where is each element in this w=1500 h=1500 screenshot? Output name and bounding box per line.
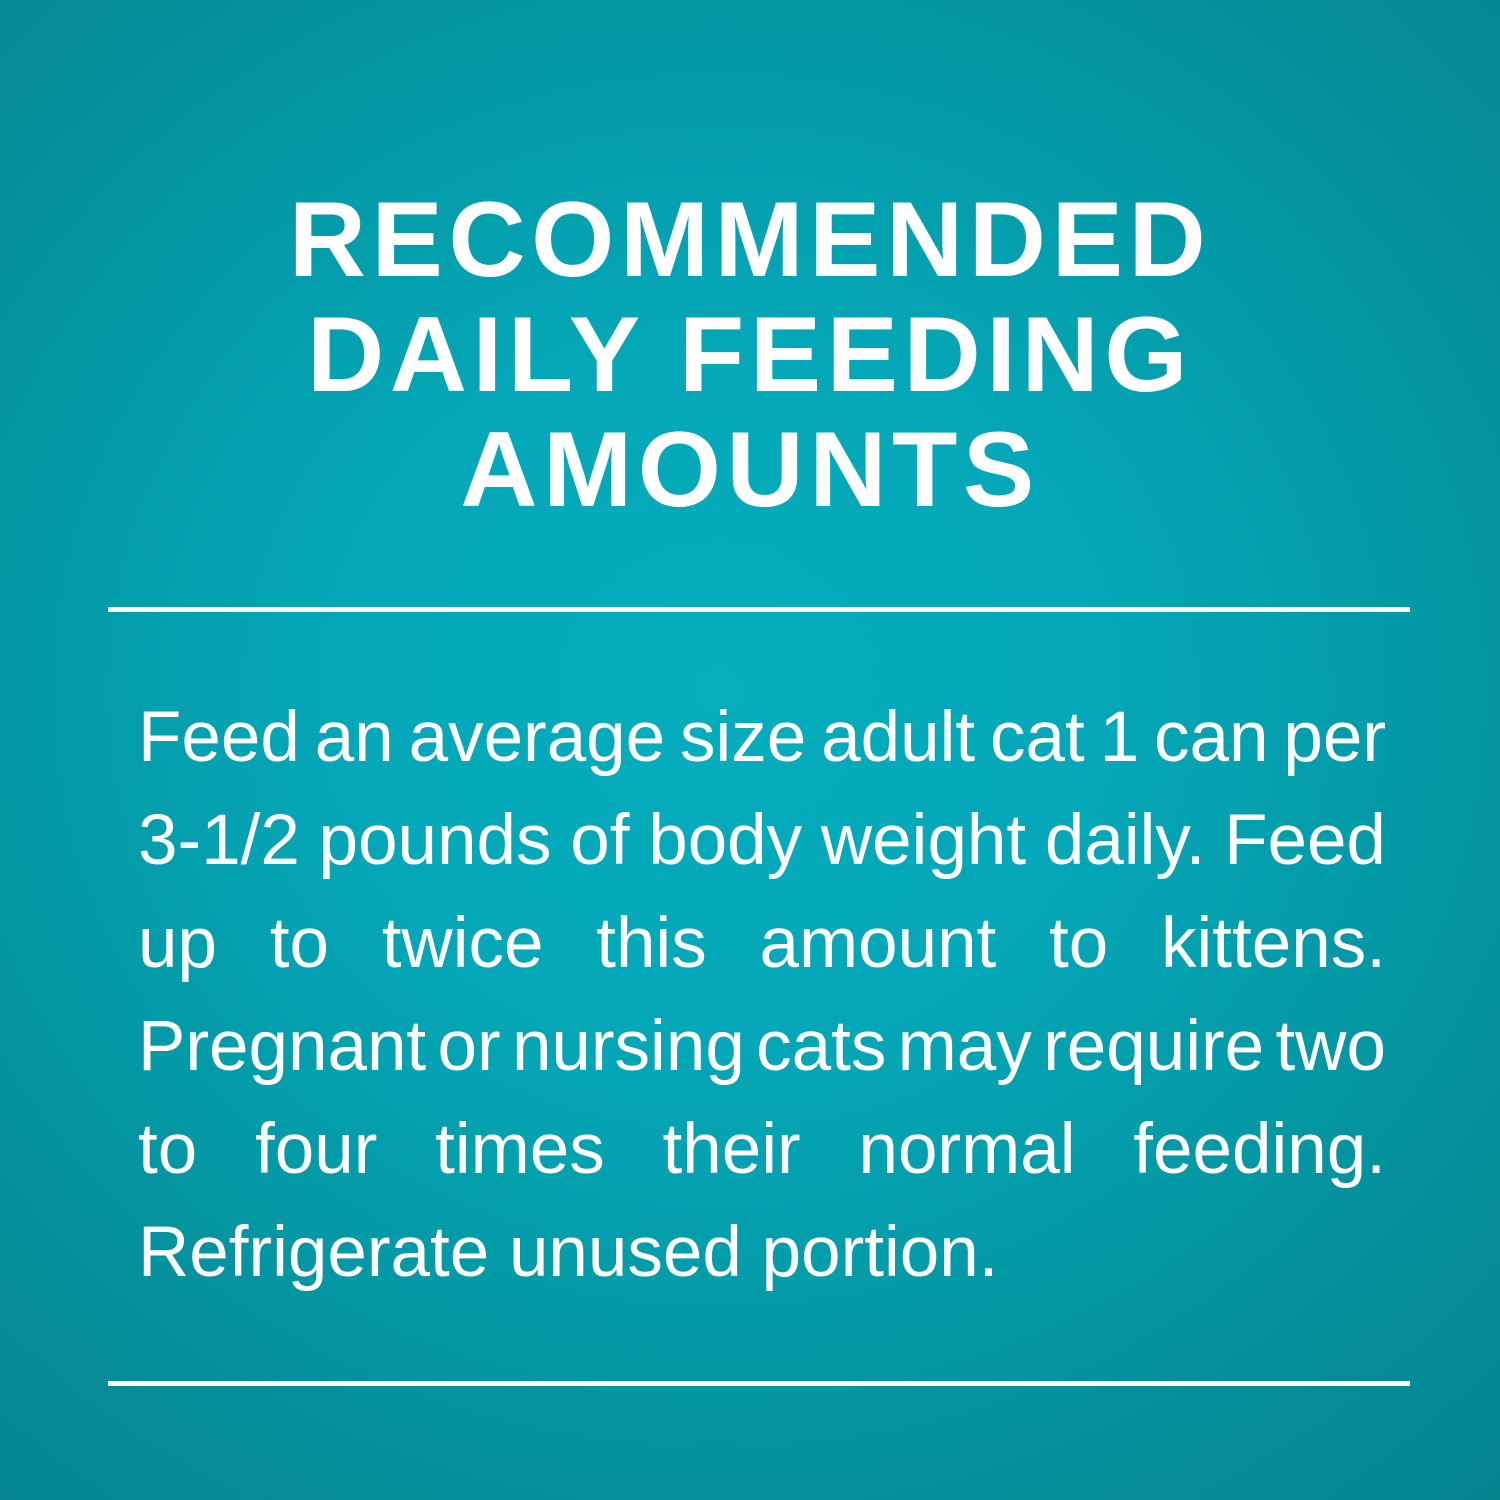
body-word: require xyxy=(1043,995,1264,1098)
body-word: weight xyxy=(821,789,1026,892)
body-word: kittens. xyxy=(1161,892,1386,995)
body-line-5: tofourtimestheirnormalfeeding. xyxy=(138,1098,1386,1201)
body-word: to xyxy=(1049,892,1108,995)
body-word: two xyxy=(1275,995,1386,1098)
body-word: Feed xyxy=(1224,789,1386,892)
body-line-3: uptotwicethisamounttokittens. xyxy=(138,892,1386,995)
page-title: RECOMMENDED DAILY FEEDING AMOUNTS xyxy=(0,182,1500,527)
feeding-instructions-panel: RECOMMENDED DAILY FEEDING AMOUNTS Feedan… xyxy=(0,0,1500,1500)
body-word: pounds xyxy=(319,789,552,892)
body-word: body xyxy=(648,789,802,892)
body-word: average xyxy=(409,686,666,789)
body-word: times xyxy=(435,1098,605,1201)
body-word: per xyxy=(1283,686,1386,789)
body-word: or xyxy=(437,995,500,1098)
body-word: amount xyxy=(759,892,996,995)
body-word: up xyxy=(138,892,217,995)
body-word: Feed xyxy=(138,686,300,789)
body-word: normal xyxy=(858,1098,1075,1201)
body-word: may xyxy=(898,995,1032,1098)
body-word: twice xyxy=(382,892,544,995)
body-word: nursing xyxy=(512,995,745,1098)
page-title-line-1: RECOMMENDED xyxy=(0,182,1500,297)
body-word: 3-1/2 xyxy=(138,789,300,892)
body-word: of xyxy=(570,789,629,892)
body-word: this xyxy=(596,892,707,995)
body-word: feeding. xyxy=(1133,1098,1386,1201)
body-word: adult xyxy=(821,686,975,789)
body-word: cats xyxy=(756,995,886,1098)
body-word: Pregnant xyxy=(138,995,426,1098)
body-word: cat xyxy=(990,686,1085,789)
body-word: their xyxy=(663,1098,801,1201)
body-word: daily. xyxy=(1045,789,1205,892)
divider-top xyxy=(108,607,1410,612)
body-line-6: Refrigerate unused portion. xyxy=(138,1201,1386,1304)
page-title-line-2: DAILY FEEDING xyxy=(0,297,1500,412)
body-word: to xyxy=(270,892,329,995)
body-word: to xyxy=(138,1098,197,1201)
body-word: four xyxy=(255,1098,377,1201)
body-word: can xyxy=(1154,686,1268,789)
body-line-1: Feedanaveragesizeadultcat1canper xyxy=(138,686,1386,789)
body-line-2: 3-1/2poundsofbodyweightdaily.Feed xyxy=(138,789,1386,892)
page-title-line-3: AMOUNTS xyxy=(0,412,1500,527)
body-word: an xyxy=(315,686,394,789)
feeding-instructions-text: Feedanaveragesizeadultcat1canper 3-1/2po… xyxy=(138,686,1386,1304)
body-word: size xyxy=(680,686,806,789)
body-line-4: Pregnantornursingcatsmayrequiretwo xyxy=(138,995,1386,1098)
body-word: 1 xyxy=(1100,686,1140,789)
divider-bottom xyxy=(108,1381,1410,1386)
